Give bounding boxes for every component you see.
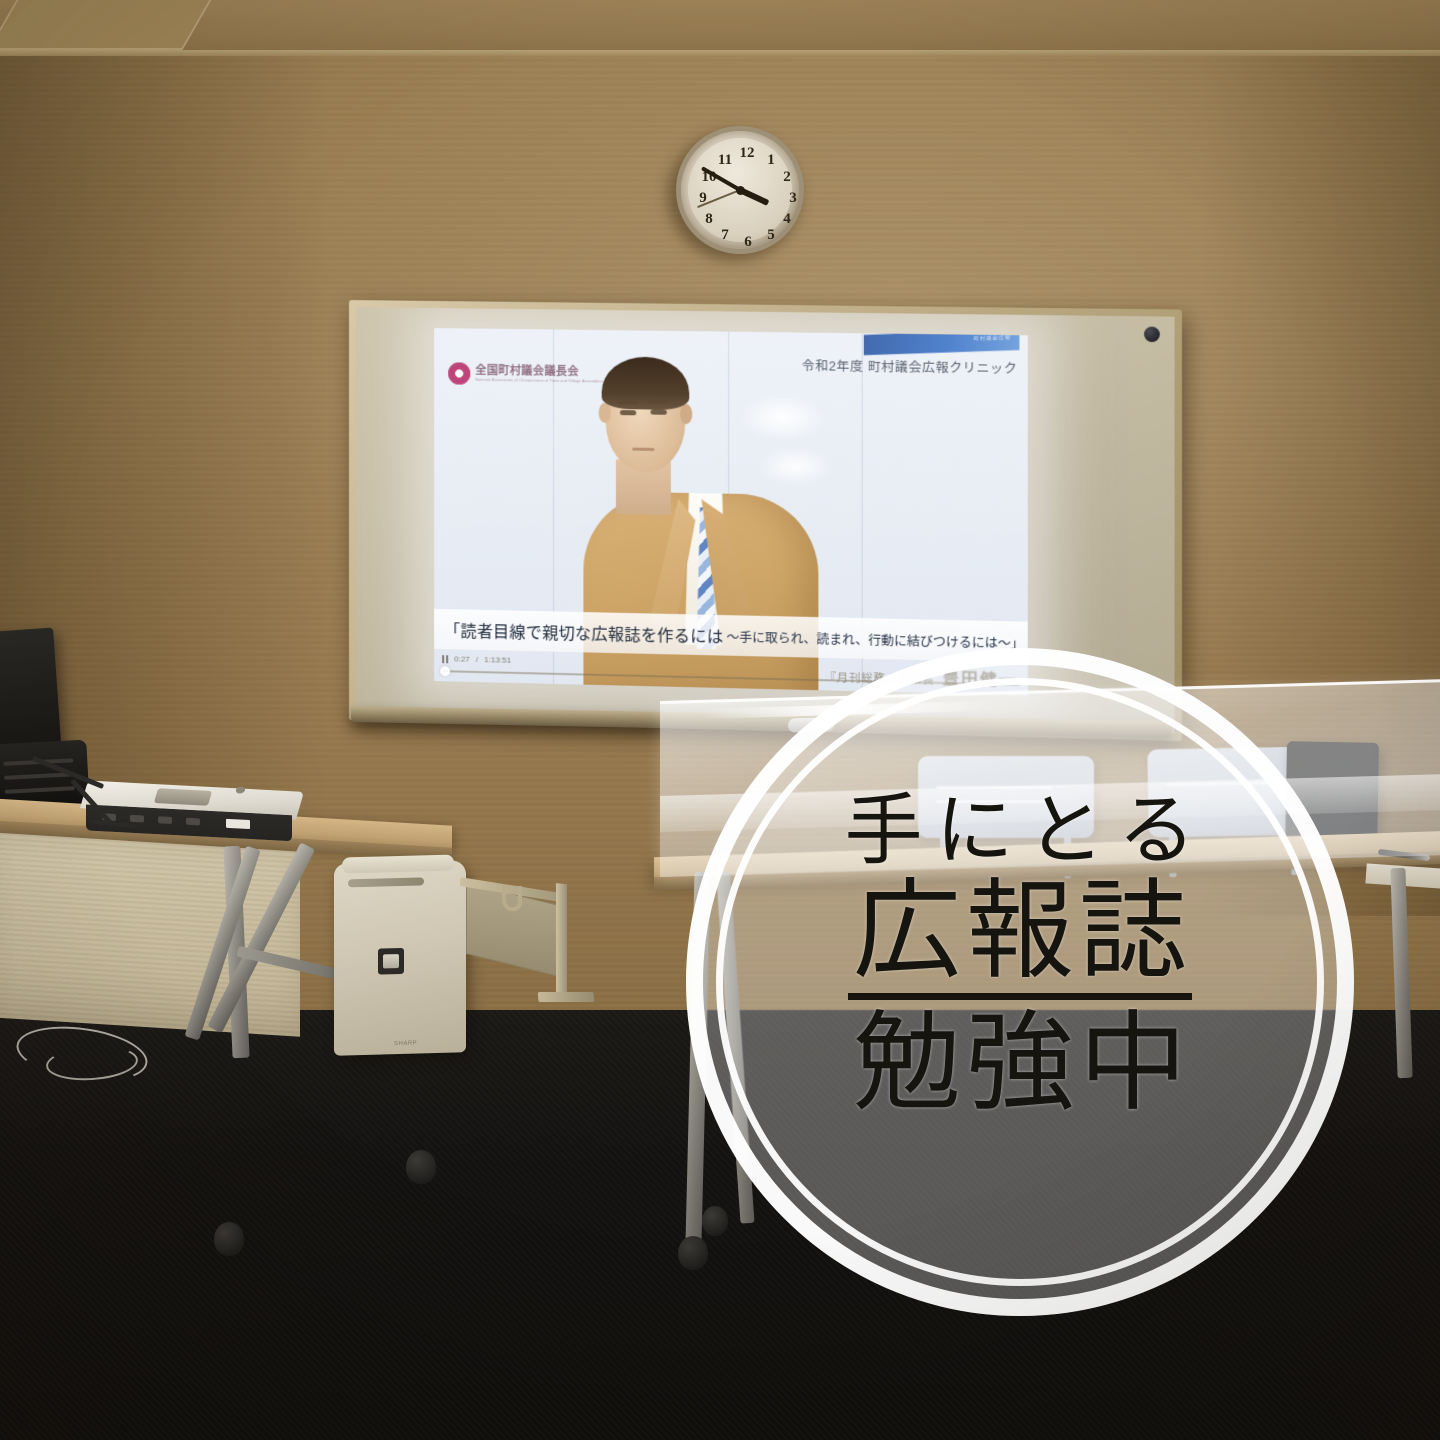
photo-canvas: 12 1 2 3 4 5 6 7 8 9 10 11 [0,0,1440,1440]
badge-line-3: 勉強中 [848,1004,1192,1125]
badge-line-1: 手にとる [831,790,1208,873]
ceiling-access-panel [0,0,228,50]
chair-slot [5,786,75,794]
projected-video: 全国町村議会議長会 National Association of Chairp… [434,328,1028,695]
video-progress-handle[interactable] [440,666,450,676]
projector-port [158,816,172,824]
clock-center-pin [736,186,745,195]
clock-numeral: 5 [762,226,780,244]
video-time-separator: / [476,655,478,664]
clock-numeral: 2 [778,168,796,186]
caster-wheel [214,1222,244,1256]
clock-numeral: 12 [738,144,756,162]
folded-equipment-stand [460,879,580,999]
clock-numeral: 1 [762,151,780,169]
pause-icon[interactable] [442,655,448,663]
air-purifier-display [378,948,404,975]
organization-logo-text: 全国町村議会議長会 National Association of Chairp… [475,365,603,383]
equipment-foot [538,992,595,1002]
air-purifier-brand: SHARP [394,1041,417,1048]
clock-face: 12 1 2 3 4 5 6 7 8 9 10 11 [688,138,792,242]
projector-lens-cover [154,788,212,806]
magnet-dot-icon [1144,327,1160,343]
equipment-pole [556,883,567,1000]
clock-numeral: 7 [716,226,734,244]
caster-wheel [406,1150,436,1184]
projector [84,780,300,839]
clock-numeral: 11 [716,151,734,169]
speaker-mouth [632,448,654,451]
caster-wheel [702,1206,728,1236]
video-time-current: 0:27 [454,654,470,663]
speaker-ear-right [680,404,692,424]
equipment-hook-icon [502,884,522,912]
organization-logo: 全国町村議会議長会 National Association of Chairp… [448,362,603,386]
organization-name-jp: 全国町村議会議長会 [475,365,603,378]
caster-wheel [678,1236,708,1270]
projector-port [186,818,200,826]
projector-label [226,819,250,829]
ceiling [0,0,1440,56]
subtitle-secondary: ～手に取られ、読まれ、行動に結びつけるには～」 [726,626,1023,652]
clock-numeral: 8 [700,210,718,228]
clock-numeral: 4 [778,210,796,228]
chrysanthemum-logo-icon [448,362,470,384]
wall-clock: 12 1 2 3 4 5 6 7 8 9 10 11 [676,126,804,254]
speaker-ear-left [599,403,611,423]
projector-port [130,815,144,823]
video-time-total: 1:13:51 [484,655,511,665]
speaker-jacket [583,491,818,695]
speaker-eyebrow-right [648,400,668,403]
badge-line-2: 広報誌 [848,873,1192,1001]
clock-numeral: 3 [784,189,802,207]
speaker-eye-right [650,409,666,414]
speaker-eye-left [620,410,636,415]
speaker-eyebrow-left [618,401,638,404]
organization-name-en: National Association of Chairpersons of … [475,378,603,383]
subtitle-main: 「読者目線で親切な広報誌を作るには [444,617,723,647]
air-purifier-vent [348,877,424,887]
clock-numeral: 6 [739,233,757,251]
video-player-controls[interactable]: 0:27 / 1:13:51 [442,654,511,665]
badge-text-block: 手にとる 広報誌 勉強中 [686,790,1354,1125]
overlay-badge: 手にとる 広報誌 勉強中 [686,648,1354,1316]
air-purifier-top [342,855,454,874]
air-purifier: SHARP [334,860,466,1055]
slide-header-title: 令和2年度 町村議会広報クリニック [802,355,1018,377]
clock-bezel: 12 1 2 3 4 5 6 7 8 9 10 11 [676,126,804,254]
